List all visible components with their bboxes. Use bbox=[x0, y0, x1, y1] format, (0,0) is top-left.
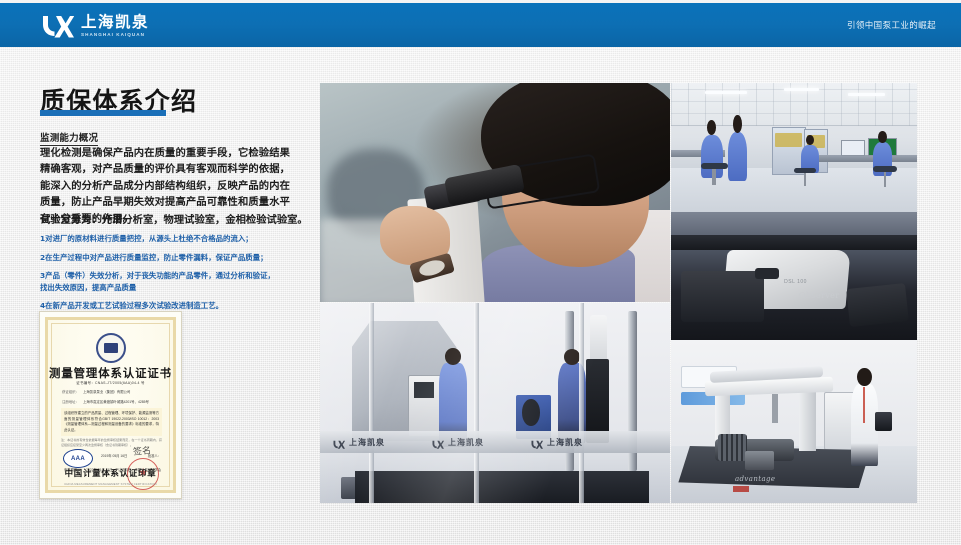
certificate-footer-en: CHINA MEASUREMENT MANAGEMENT SYSTEM CERT… bbox=[48, 483, 173, 487]
equipment-model-label: DSL 100 bbox=[784, 279, 807, 285]
title-underline-rule bbox=[40, 110, 166, 116]
certificate-frame: 测量管理体系认证证书 证书编号：CNAS-JT/2005(6AA)04-4 号 … bbox=[45, 317, 176, 493]
list-item: 2在生产过程中对产品进行质量监控，防止零件漏料，保证产品质量； bbox=[40, 252, 276, 264]
lab-stool bbox=[873, 166, 898, 172]
ceiling-light bbox=[705, 91, 747, 94]
camera-module bbox=[681, 271, 765, 322]
certificate-number: 证书编号：CNAS-JT/2005(6AA)04-4 号 bbox=[48, 381, 173, 386]
bench-top-edge bbox=[671, 235, 917, 250]
lab-worker bbox=[728, 132, 748, 181]
cmm-probe-head bbox=[772, 394, 778, 423]
brand-name-cn: 上海凯泉 bbox=[81, 15, 149, 31]
brand-name-en: SHANGHAI KAIQUAN bbox=[81, 33, 149, 38]
slide-root: 上海凯泉 SHANGHAI KAIQUAN 引领中国泵工业的崛起 质保体系介绍 … bbox=[0, 0, 961, 545]
certificate-body-text: 该组织所建立的产品质量、过程管理、环境保护、能源监测等方面的测量管理体系符合GB… bbox=[61, 408, 162, 436]
lab-stool bbox=[701, 163, 728, 169]
list-item: 3产品（零件）失效分析，对于丧失功能的产品零件，通过分析和验证，找出失效原因，提… bbox=[40, 270, 276, 293]
technician-person bbox=[851, 384, 878, 466]
left-content-column: 质保体系介绍 监测能力概况 理化检测是确保产品内在质量的重要手段，它检验结果精确… bbox=[0, 47, 312, 545]
laboratory-types-line: 试验室分为：光谱分析室，物理试验室，金相检验试验室。 bbox=[40, 213, 302, 228]
issue-date-value: 2019年 05月 16日 bbox=[101, 453, 127, 458]
certificate-title: 测量管理体系认证证书 bbox=[48, 365, 173, 381]
field-value: 上海市嘉定区黄渡镇叶城路4201号、4285号 bbox=[83, 400, 149, 405]
round-emblem-seal-icon bbox=[96, 333, 126, 363]
list-item: 1对进厂的原材料进行质量把控，从源头上杜绝不合格品的流入； bbox=[40, 233, 276, 245]
header-slogan: 引领中国泵工业的崛起 bbox=[847, 3, 936, 47]
brand-logo[interactable]: 上海凯泉 SHANGHAI KAIQUAN bbox=[39, 12, 149, 40]
certificate-fields: 获证组织： 上海凯泉泵业（集团）有限公司 注册地址： 上海市嘉定区黄渡镇叶城路4… bbox=[62, 390, 161, 409]
photo-microscope-operator[interactable] bbox=[320, 83, 670, 302]
certificate-footer: 中国计量体系认证印章 bbox=[48, 467, 173, 479]
photo-laboratory-room[interactable] bbox=[671, 83, 917, 212]
ceiling-light bbox=[848, 93, 885, 96]
ceiling-light bbox=[784, 88, 818, 91]
certificate-field-row: 注册地址： 上海市嘉定区黄渡镇叶城路4201号、4285号 bbox=[62, 400, 161, 405]
fixture-clamp bbox=[745, 451, 775, 471]
field-key: 获证组织： bbox=[62, 390, 79, 395]
instrument-arm bbox=[846, 283, 909, 327]
lab-stool bbox=[794, 168, 816, 173]
handwritten-signature: 签名 bbox=[132, 443, 151, 458]
certificate-field-row: 获证组织： 上海凯泉泵业（集团）有限公司 bbox=[62, 390, 161, 395]
cmm-bridge-leg-right bbox=[799, 389, 816, 451]
photo-material-testing[interactable]: 上海凯泉 上海凯泉 上海凯泉 bbox=[320, 303, 670, 503]
certificate-image[interactable]: 测量管理体系认证证书 证书编号：CNAS-JT/2005(6AA)04-4 号 … bbox=[39, 311, 182, 499]
handheld-controller bbox=[875, 412, 892, 432]
field-key: 注册地址： bbox=[62, 400, 79, 405]
work-bench bbox=[819, 155, 917, 161]
photo-microscope-equipment[interactable]: DSL 100 Observer bbox=[671, 212, 917, 340]
section-heading: 监测能力概况 bbox=[40, 130, 98, 146]
capability-points-list: 1对进厂的原材料进行质量把控，从源头上杜绝不合格品的流入； 2在生产过程中对产品… bbox=[40, 233, 276, 319]
photo-cmm-measurement[interactable]: advantage bbox=[671, 340, 917, 503]
cmm-brand-label: advantage bbox=[735, 475, 776, 483]
glass-reflection-overlay bbox=[320, 303, 670, 503]
brand-logo-text: 上海凯泉 SHANGHAI KAIQUAN bbox=[81, 15, 149, 38]
red-label-tag bbox=[733, 486, 749, 492]
page-header: 上海凯泉 SHANGHAI KAIQUAN 引领中国泵工业的崛起 bbox=[0, 3, 961, 47]
aaa-badge: AAA bbox=[63, 449, 93, 468]
kaiquan-logo-mark-icon bbox=[39, 12, 74, 40]
monitor-screen bbox=[841, 140, 865, 156]
lens-stub bbox=[755, 268, 780, 278]
field-value: 上海凯泉泵业（集团）有限公司 bbox=[83, 390, 130, 395]
equipment-brand-label: Observer bbox=[799, 291, 840, 300]
